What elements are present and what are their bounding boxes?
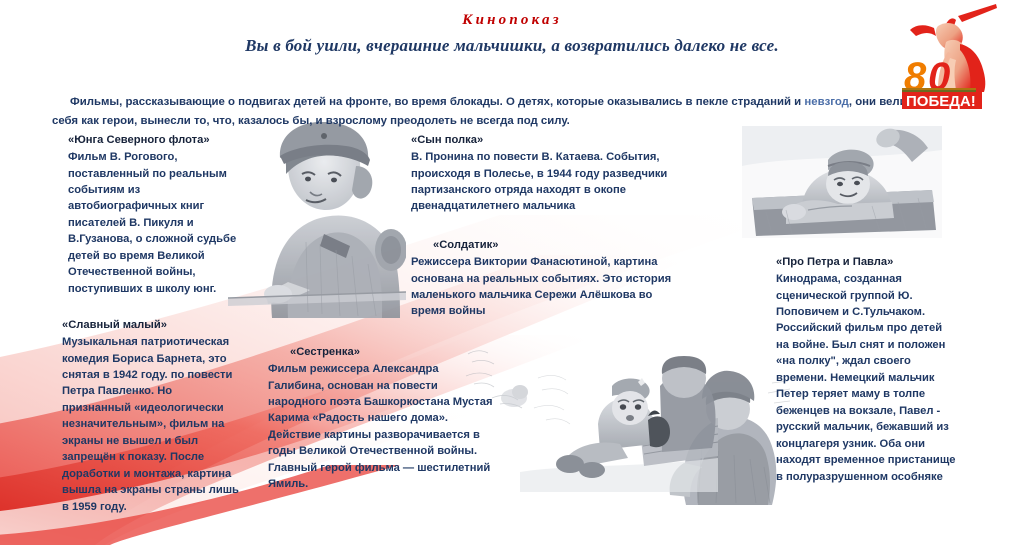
svg-text:ПОБЕДА!: ПОБЕДА! [906, 93, 976, 110]
film-title-yunga: «Юнга Северного флота» [68, 133, 243, 148]
film-block-sestrenka: «Сестренка» Фильм режиссера Александра Г… [268, 345, 496, 493]
film-description-pro-petra-i-pavla: Кинодрама, созданная сценической группой… [776, 271, 956, 485]
pencil-sketch-two-boys [668, 355, 790, 505]
page-title: Кинопоказ [0, 12, 1024, 29]
header: Кинопоказ Вы в бой ушли, вчерашние мальч… [0, 0, 1024, 55]
film-description-slavny-maly: Музыкальная патриотическая комедия Борис… [62, 334, 244, 515]
film-title-sestrenka: «Сестренка» [268, 345, 496, 360]
slide-canvas: Кинопоказ Вы в бой ушли, вчерашние мальч… [0, 0, 1024, 545]
film-title-pro-petra-i-pavla: «Про Петра и Павла» [776, 255, 956, 270]
film-title-slavny-maly: «Славный малый» [62, 318, 244, 333]
film-description-yunga: Фильм В. Рогового, поставленный по реаль… [68, 149, 243, 297]
intro-paragraph: Фильмы, рассказывающие о подвигах детей … [52, 93, 914, 130]
pencil-sketch-soldier-boy [520, 352, 718, 492]
intro-highlight-word: невзгод [804, 96, 849, 108]
film-description-sestrenka: Фильм режиссера Александра Галибина, осн… [268, 361, 496, 493]
film-block-syn-polka: «Сын полка» В. Пронина по повести В. Кат… [411, 133, 679, 215]
pencil-sketch-young-sailor [228, 122, 406, 318]
film-description-syn-polka: В. Пронина по повести В. Катаева. Событи… [411, 149, 679, 215]
pencil-sketch-boy-in-trench [742, 126, 942, 238]
film-description-soldatik: Режиссера Виктории Фанасютиной, картина … [411, 254, 679, 320]
victory-80-emblem: 8 0 ПОБЕДА! [900, 2, 1012, 110]
film-block-soldatik: «Солдатик» Режиссера Виктории Фанасютино… [411, 238, 679, 320]
intro-text-part1: Фильмы, рассказывающие о подвигах детей … [70, 96, 804, 108]
film-title-soldatik: «Солдатик» [411, 238, 679, 253]
film-block-yunga: «Юнга Северного флота» Фильм В. Рогового… [68, 133, 243, 297]
film-block-pro-petra-i-pavla: «Про Петра и Павла» Кинодрама, созданная… [776, 255, 956, 485]
emblem-word: ПОБЕДА! [902, 92, 982, 110]
film-block-slavny-maly: «Славный малый» Музыкальная патриотическ… [62, 318, 244, 515]
film-title-syn-polka: «Сын полка» [411, 133, 679, 148]
page-subtitle: Вы в бой ушли, вчерашние мальчишки, а во… [0, 36, 1024, 56]
